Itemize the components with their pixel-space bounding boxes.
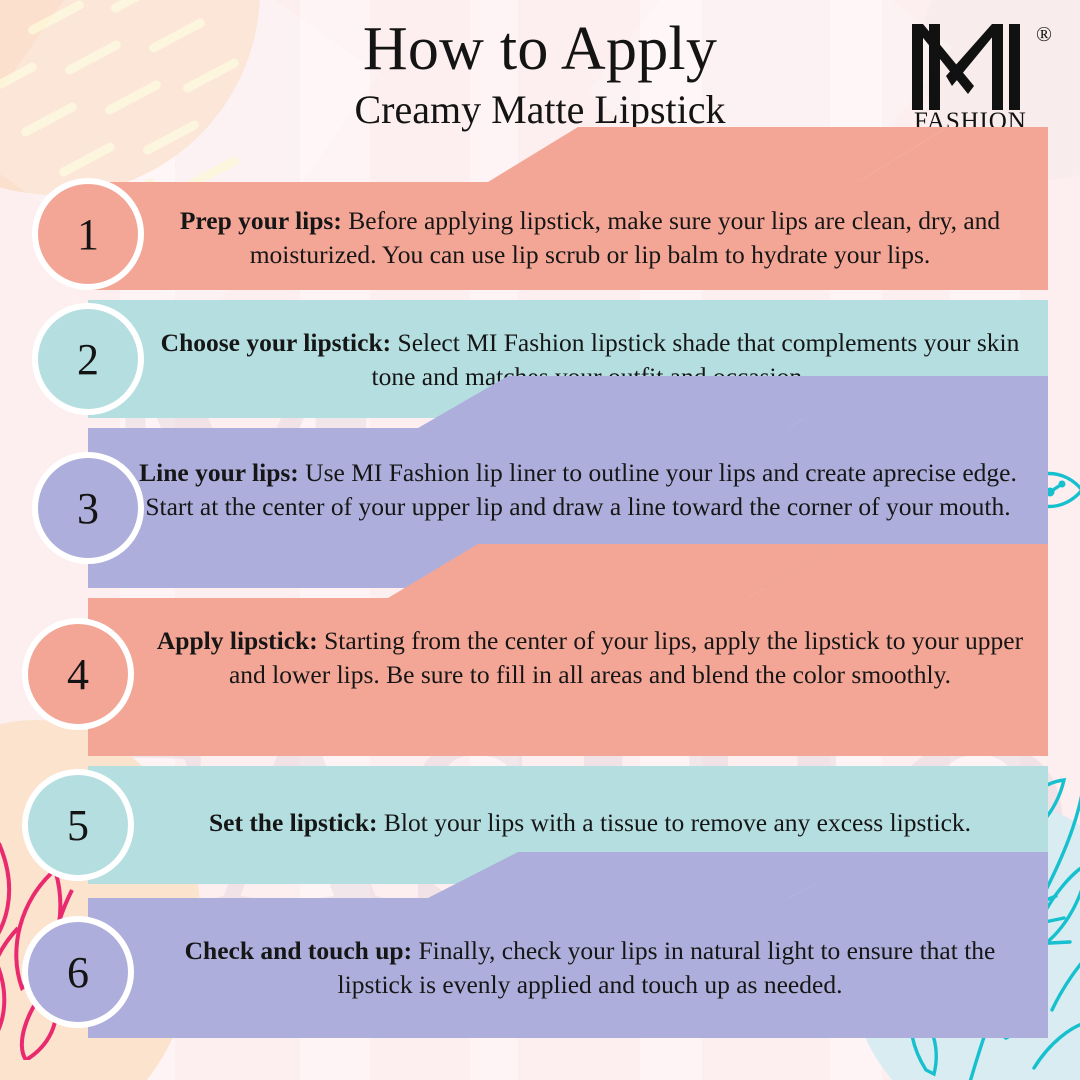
step-number-badge: 1 — [32, 178, 144, 290]
step-heading: Check and touch up: — [185, 936, 412, 965]
step-item: Check and touch up: Finally, check your … — [88, 898, 1048, 1038]
step-text: Apply lipstick: Starting from the center… — [144, 624, 1036, 692]
step-body: Starting from the center of your lips, a… — [229, 626, 1023, 689]
step-number-badge: 4 — [22, 618, 134, 730]
step-body: Before applying lipstick, make sure your… — [250, 206, 1000, 269]
step-item: Prep your lips: Before applying lipstick… — [88, 182, 1048, 290]
step-heading: Choose your lipstick: — [161, 328, 391, 357]
step-number: 5 — [67, 800, 89, 851]
step-text: Prep your lips: Before applying lipstick… — [144, 204, 1036, 272]
step-body: Finally, check your lips in natural ligh… — [338, 936, 996, 999]
step-number: 4 — [67, 649, 89, 700]
infographic-canvas: MI FASHION — [0, 0, 1080, 1080]
step-text: Set the lipstick: Blot your lips with a … — [144, 806, 1036, 840]
step-heading: Apply lipstick: — [157, 626, 318, 655]
step-number-badge: 3 — [32, 452, 144, 564]
step-number-badge: 5 — [22, 769, 134, 881]
step-heading: Set the lipstick: — [209, 808, 378, 837]
steps-list: Prep your lips: Before applying lipstick… — [0, 0, 1080, 1080]
step-body: Blot your lips with a tissue to remove a… — [378, 808, 972, 837]
step-item: Apply lipstick: Starting from the center… — [88, 598, 1048, 756]
step-number: 2 — [77, 334, 99, 385]
step-text: Line your lips: Use MI Fashion lip liner… — [128, 456, 1028, 524]
step-heading: Line your lips: — [139, 458, 299, 487]
step-number-badge: 6 — [22, 916, 134, 1028]
step-number: 6 — [67, 947, 89, 998]
step-number: 1 — [77, 209, 99, 260]
step-number-badge: 2 — [32, 303, 144, 415]
step-heading: Prep your lips: — [180, 206, 342, 235]
step-number: 3 — [77, 483, 99, 534]
step-text: Check and touch up: Finally, check your … — [144, 934, 1036, 1002]
